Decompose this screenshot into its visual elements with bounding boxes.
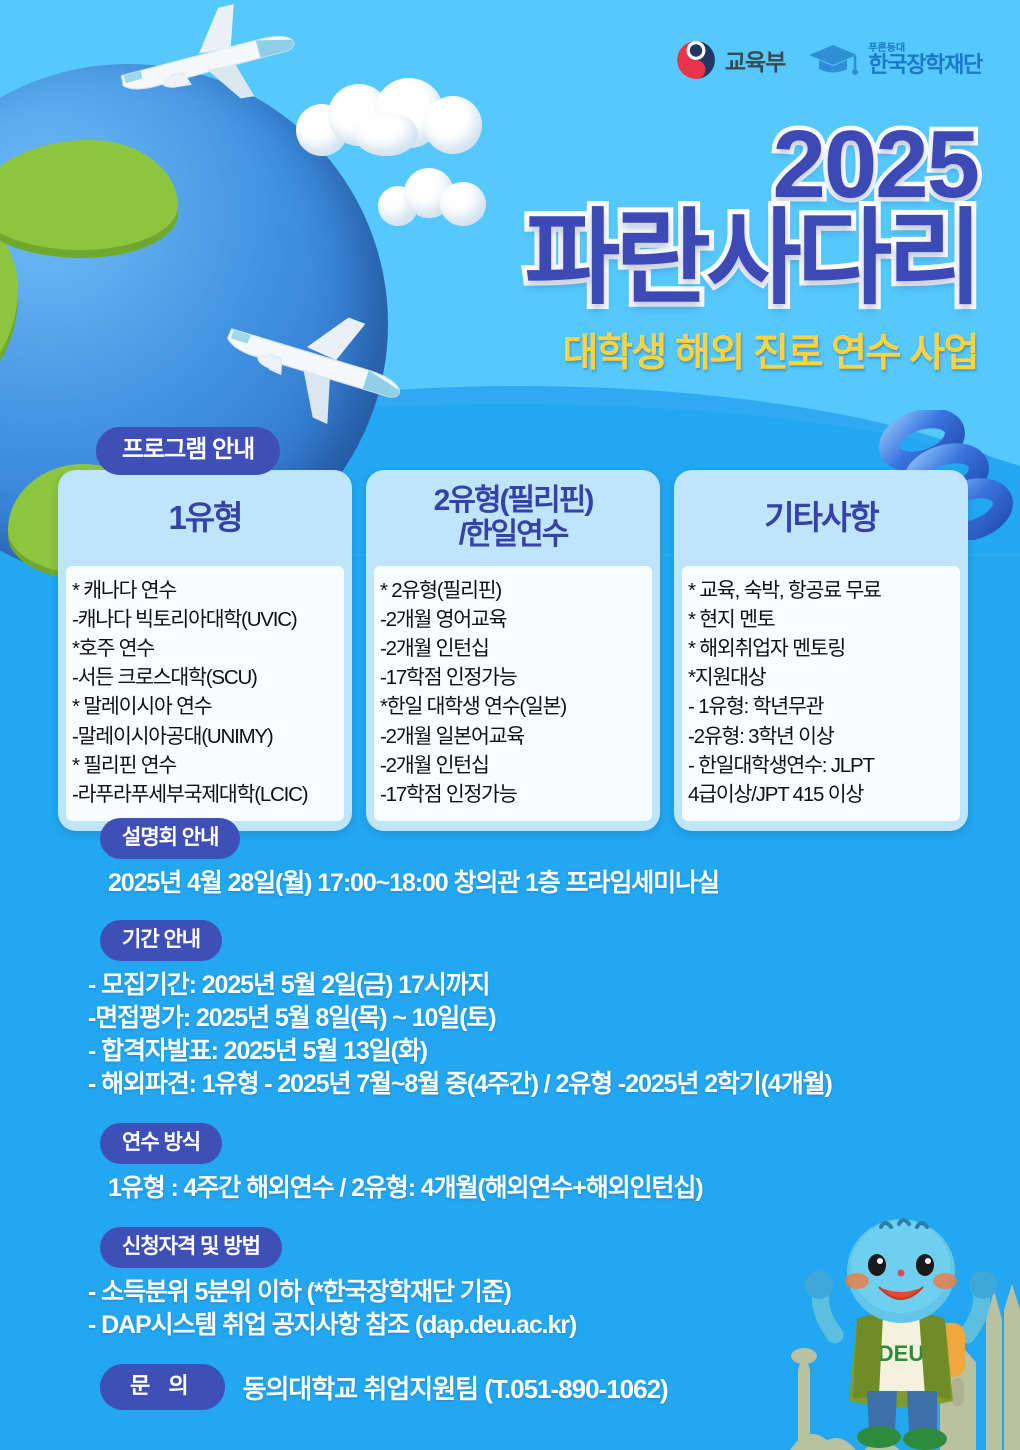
section-lines-method: 1유형 : 4주간 해외연수 / 2유형: 4개월(해외연수+해외인턴십) <box>0 1172 1020 1205</box>
list-item: -2유형: 3학년 이상 <box>688 722 954 751</box>
text-line: - 모집기간: 2025년 5월 2일(금) 17시까지 <box>88 969 1020 1002</box>
program-section-label: 프로그램 안내 <box>96 427 280 475</box>
program-card-type2: 2유형(필리핀) /한일연수 * 2유형(필리핀) -2개월 영어교육 -2개월… <box>366 470 660 831</box>
list-item: *한일 대학생 연수(일본) <box>380 692 646 721</box>
poster-title-block: 2025 파란사다리 대학생 해외 진로 연수 사업 <box>525 118 978 378</box>
logo-bar: 교육부 푸른등대 한국장학재단 <box>676 40 982 80</box>
list-item: * 2유형(필리핀) <box>380 576 646 605</box>
cloud-icon-2 <box>378 168 498 226</box>
airplane-icon-1 <box>108 4 308 114</box>
list-item: - 1유형: 학년무관 <box>688 692 954 721</box>
title-subtitle: 대학생 해외 진로 연수 사업 <box>525 322 978 378</box>
list-item: * 말레이시아 연수 <box>72 692 338 721</box>
list-item: * 캐나다 연수 <box>72 576 338 605</box>
graduation-cap-icon <box>807 43 859 77</box>
taegeuk-icon <box>676 40 716 80</box>
list-item: * 해외취업자 멘토링 <box>688 634 954 663</box>
cloud-icon-1 <box>296 78 486 156</box>
card-body-type2: * 2유형(필리핀) -2개월 영어교육 -2개월 인턴십 -17학점 인정가능… <box>374 566 652 821</box>
contact-row: 문 의 동의대학교 취업지원팀 (T.051-890-1062) <box>0 1364 1020 1410</box>
contact-label: 문 의 <box>100 1364 225 1410</box>
list-item: * 현지 멘토 <box>688 605 954 634</box>
list-item: -17학점 인정가능 <box>380 663 646 692</box>
card-header: 기타사항 <box>674 470 968 566</box>
airplane-icon-2 <box>216 296 416 426</box>
text-line: -면접평가: 2025년 5월 8일(목) ~ 10일(토) <box>88 1002 1020 1035</box>
list-item: 4급이상/JPT 415 이상 <box>688 780 954 809</box>
list-item: * 교육, 숙박, 항공료 무료 <box>688 576 954 605</box>
program-card-type1: 1유형 * 캐나다 연수 -캐나다 빅토리아대학(UVIC) *호주 연수 -서… <box>58 470 352 831</box>
info-sections: 설명회 안내 2025년 4월 28일(월) 17:00~18:00 창의관 1… <box>0 818 1020 1410</box>
text-line: - 해외파견: 1유형 - 2025년 7월~8월 중(4주간) / 2유형 -… <box>88 1068 1020 1101</box>
list-item: -17학점 인정가능 <box>380 780 646 809</box>
ministry-of-education-logo: 교육부 <box>676 40 785 80</box>
section-label-session: 설명회 안내 <box>100 818 240 859</box>
section-method: 연수 방식 1유형 : 4주간 해외연수 / 2유형: 4개월(해외연수+해외인… <box>0 1123 1020 1205</box>
text-line: - DAP시스템 취업 공지사항 참조 (dap.deu.ac.kr) <box>88 1309 1020 1342</box>
kosaf-text: 푸른등대 한국장학재단 <box>868 44 982 76</box>
list-item: -서든 크로스대학(SCU) <box>72 663 338 692</box>
section-label-method: 연수 방식 <box>100 1123 222 1164</box>
text-line: 1유형 : 4주간 해외연수 / 2유형: 4개월(해외연수+해외인턴십) <box>108 1172 1020 1205</box>
card-body-other: * 교육, 숙박, 항공료 무료 * 현지 멘토 * 해외취업자 멘토링 *지원… <box>682 566 960 821</box>
list-item: *지원대상 <box>688 663 954 692</box>
list-item: - 한일대학생연수: JLPT <box>688 751 954 780</box>
section-lines-period: - 모집기간: 2025년 5월 2일(금) 17시까지 -면접평가: 2025… <box>0 969 1020 1101</box>
card-title-type1: 1유형 <box>168 500 241 537</box>
contact-text: 동의대학교 취업지원팀 (T.051-890-1062) <box>243 1369 668 1406</box>
section-label-period: 기간 안내 <box>100 920 222 961</box>
list-item: -2개월 인턴십 <box>380 751 646 780</box>
card-title-type2-line2: /한일연수 <box>434 518 593 552</box>
list-item: -말레이시아공대(UNIMY) <box>72 722 338 751</box>
card-body-type1: * 캐나다 연수 -캐나다 빅토리아대학(UVIC) *호주 연수 -서든 크로… <box>66 566 344 821</box>
list-item: -2개월 영어교육 <box>380 605 646 634</box>
card-title-type2: 2유형(필리핀) /한일연수 <box>434 484 593 551</box>
section-lines-apply: - 소득분위 5분위 이하 (*한국장학재단 기준) - DAP시스템 취업 공… <box>0 1276 1020 1342</box>
section-apply: 신청자격 및 방법 - 소득분위 5분위 이하 (*한국장학재단 기준) - D… <box>0 1227 1020 1342</box>
ministry-label: 교육부 <box>725 43 785 77</box>
title-year: 2025 <box>525 118 978 212</box>
list-item: -캐나다 빅토리아대학(UVIC) <box>72 605 338 634</box>
poster-root: 교육부 푸른등대 한국장학재단 2025 파란사다리 대학생 해외 진로 연수 … <box>0 0 1020 1450</box>
section-lines-session: 2025년 4월 28일(월) 17:00~18:00 창의관 1층 프라임세미… <box>0 867 1020 900</box>
program-cards: 1유형 * 캐나다 연수 -캐나다 빅토리아대학(UVIC) *호주 연수 -서… <box>58 470 968 831</box>
card-header: 1유형 <box>58 470 352 566</box>
title-main: 파란사다리 <box>525 206 978 312</box>
globe-landmass-3 <box>0 140 178 250</box>
program-card-other: 기타사항 * 교육, 숙박, 항공료 무료 * 현지 멘토 * 해외취업자 멘토… <box>674 470 968 831</box>
card-header: 2유형(필리핀) /한일연수 <box>366 470 660 566</box>
card-title-other: 기타사항 <box>764 500 877 537</box>
section-session: 설명회 안내 2025년 4월 28일(월) 17:00~18:00 창의관 1… <box>0 818 1020 900</box>
list-item: -라푸라푸세부국제대학(LCIC) <box>72 780 338 809</box>
card-title-type2-line1: 2유형(필리핀) <box>434 484 593 518</box>
list-item: -2개월 일본어교육 <box>380 722 646 751</box>
text-line: 2025년 4월 28일(월) 17:00~18:00 창의관 1층 프라임세미… <box>108 867 1020 900</box>
list-item: * 필리핀 연수 <box>72 751 338 780</box>
text-line: - 합격자발표: 2025년 5월 13일(화) <box>88 1035 1020 1068</box>
kosaf-logo: 푸른등대 한국장학재단 <box>807 43 982 77</box>
list-item: -2개월 인턴십 <box>380 634 646 663</box>
text-line: - 소득분위 5분위 이하 (*한국장학재단 기준) <box>88 1276 1020 1309</box>
section-period: 기간 안내 - 모집기간: 2025년 5월 2일(금) 17시까지 -면접평가… <box>0 920 1020 1101</box>
kosaf-main-label: 한국장학재단 <box>868 54 982 76</box>
section-label-apply: 신청자격 및 방법 <box>100 1227 282 1268</box>
list-item: *호주 연수 <box>72 634 338 663</box>
